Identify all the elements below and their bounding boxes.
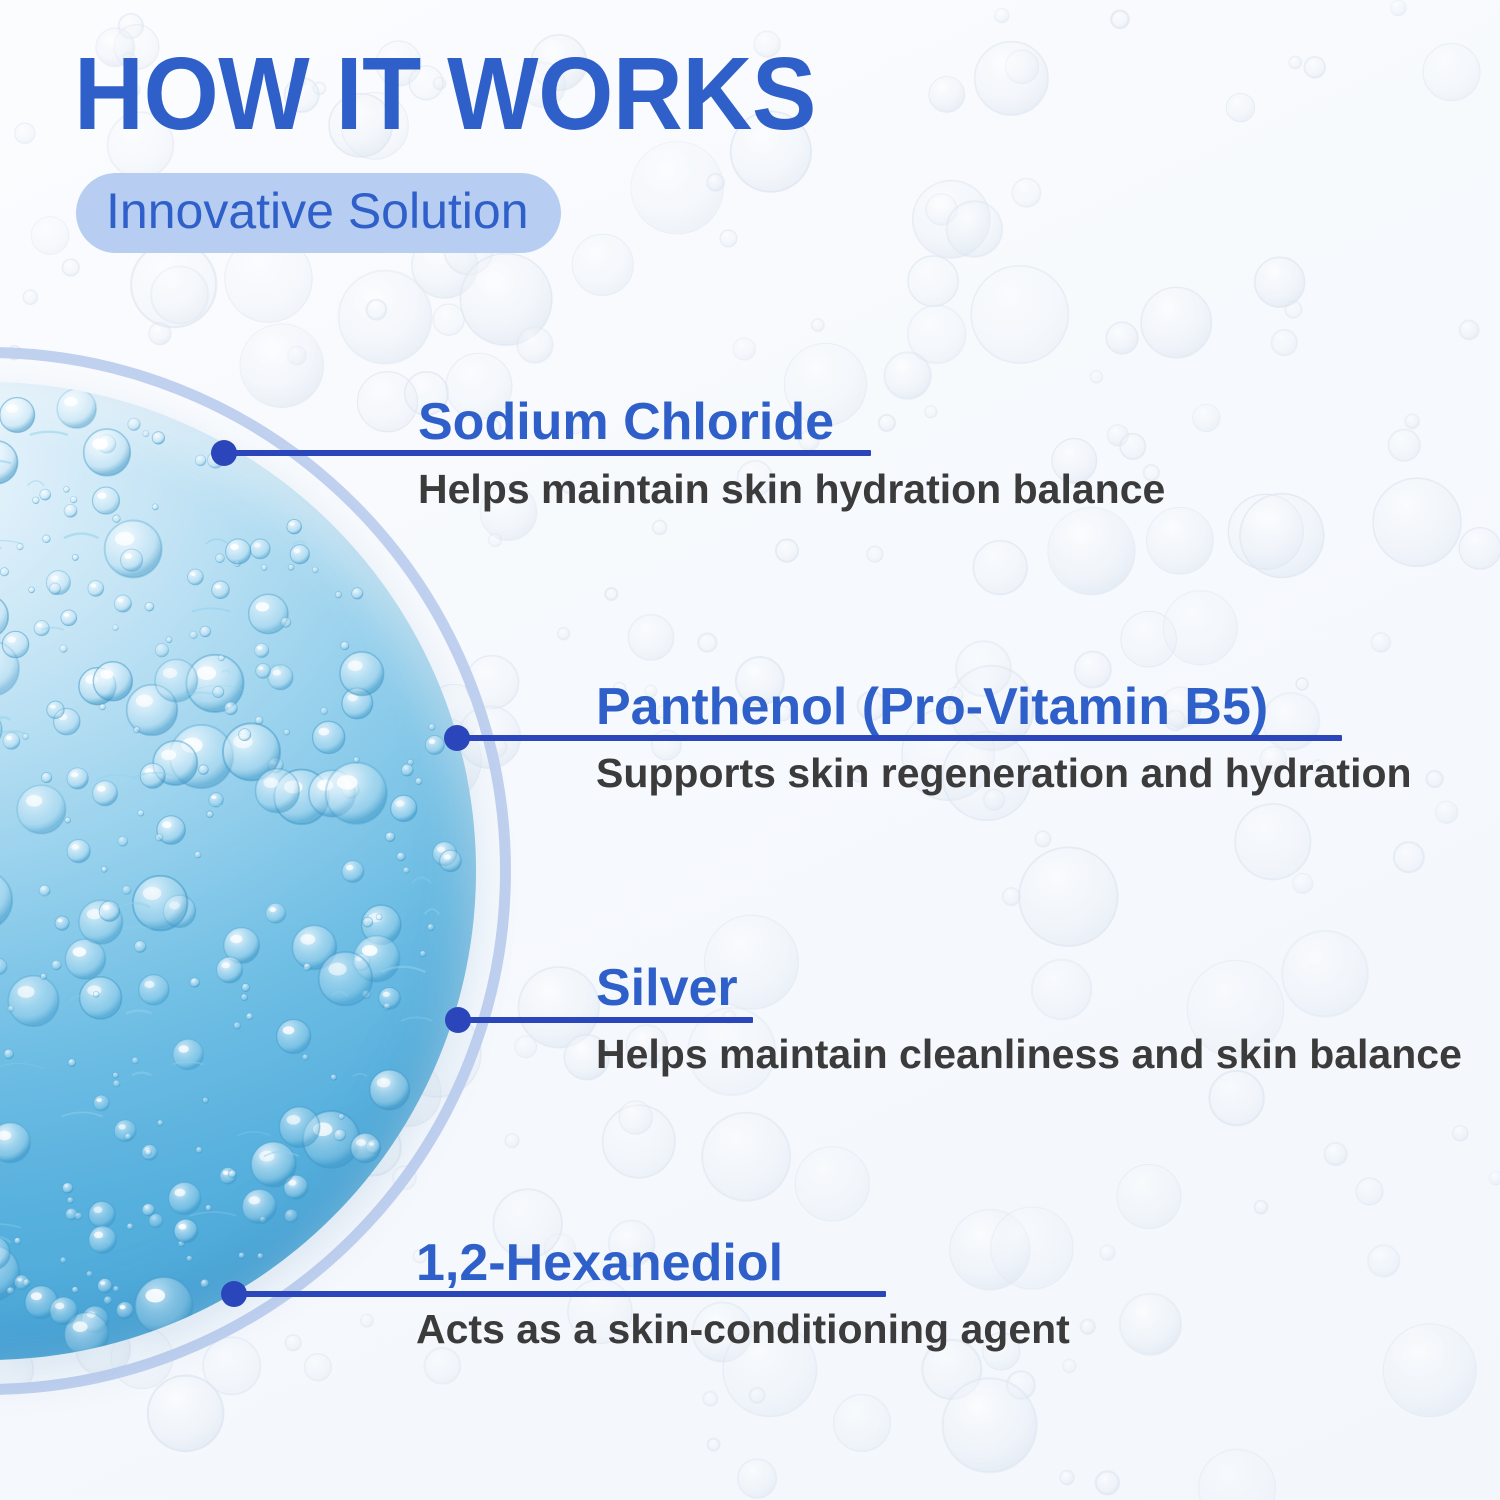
page-title: HOW IT WORKS (74, 44, 816, 145)
ingredient-description: Helps maintain skin hydration balance (418, 468, 1165, 511)
subtitle-badge: Innovative Solution (76, 173, 561, 253)
ingredient-title: Silver (596, 962, 738, 1014)
gel-body (0, 382, 476, 1360)
ingredient-description: Helps maintain cleanliness and skin bala… (596, 1033, 1462, 1076)
header: HOW IT WORKS Innovative Solution (74, 44, 863, 253)
connector-line (465, 1017, 753, 1023)
ingredient-description: Supports skin regeneration and hydration (596, 752, 1412, 795)
ingredient-description: Acts as a skin-conditioning agent (416, 1308, 1070, 1351)
ingredient-title: Panthenol (Pro-Vitamin B5) (596, 681, 1268, 733)
ingredient-title: Sodium Chloride (418, 396, 834, 448)
ingredient-title: 1,2-Hexanediol (416, 1237, 783, 1289)
infographic-root: HOW IT WORKS Innovative Solution Sodium … (0, 0, 1500, 1500)
